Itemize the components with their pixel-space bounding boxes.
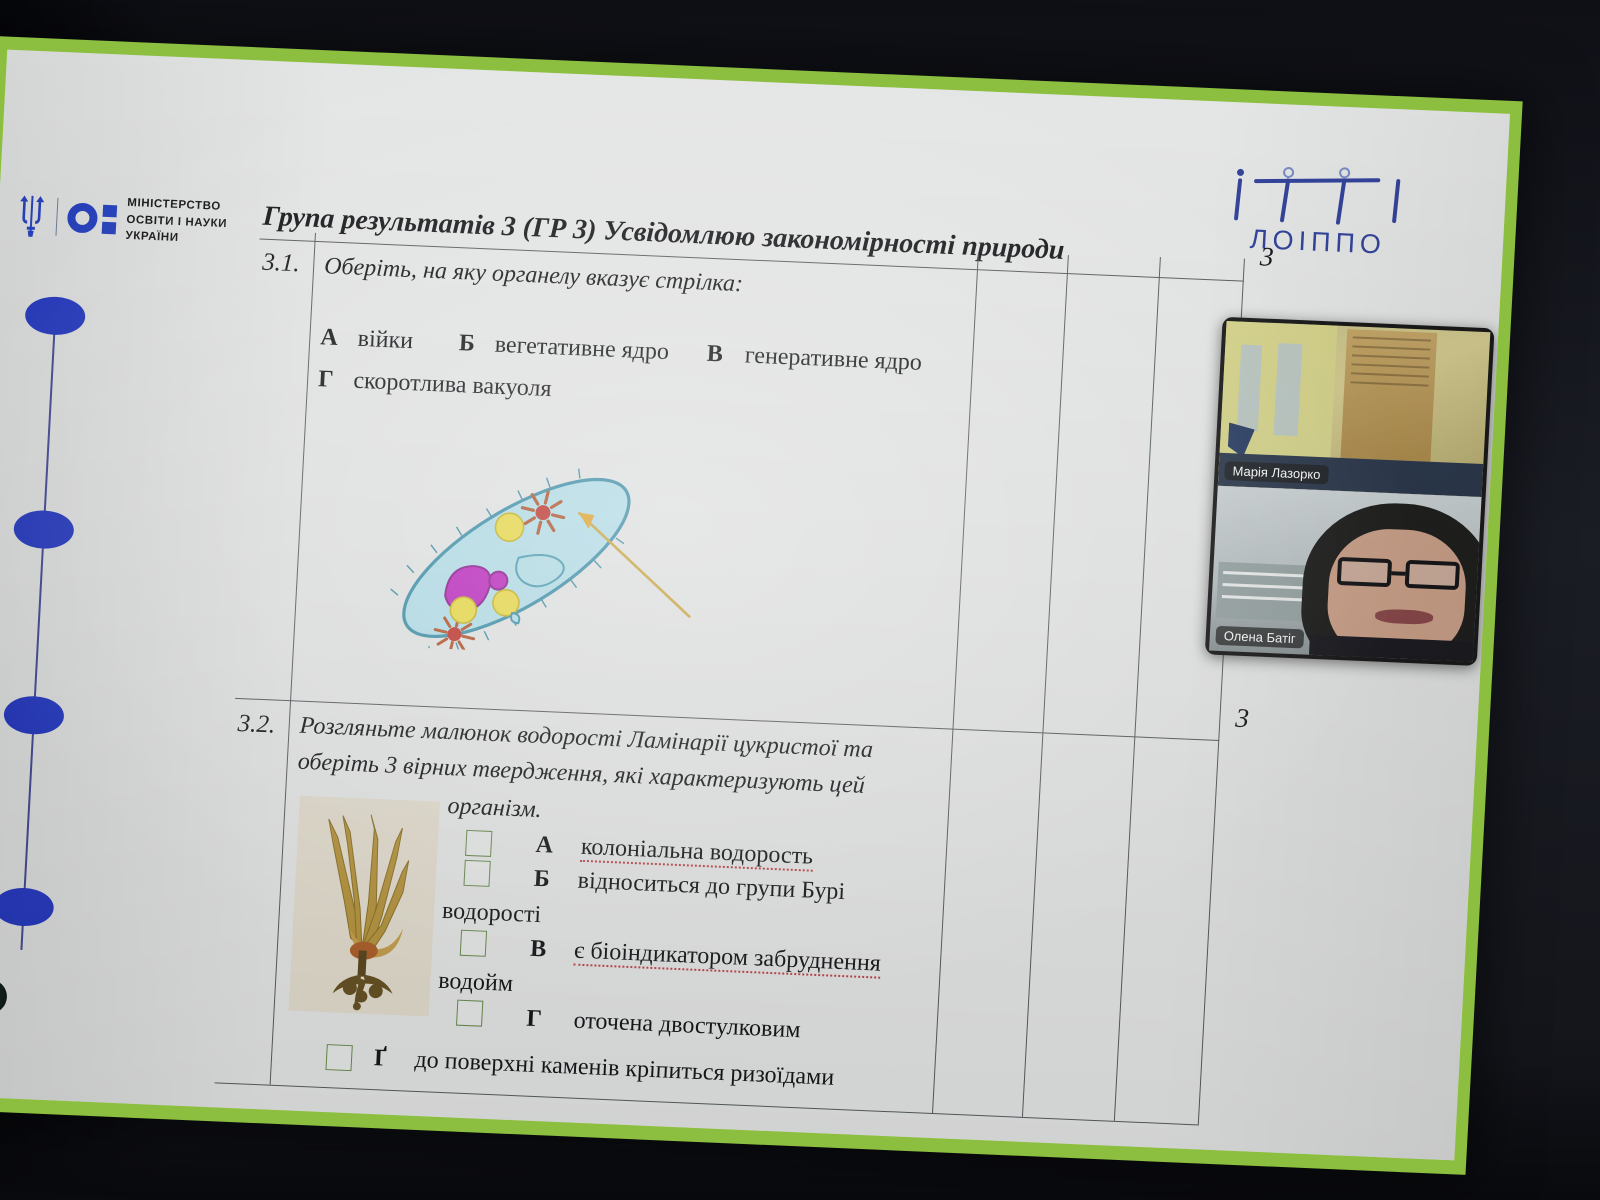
- video-participants-panel[interactable]: Марія Лазорко Олена Батіг: [1205, 317, 1495, 666]
- q31-option-a-text: війки: [357, 326, 414, 354]
- question-3-1-number: 3.1.: [262, 249, 301, 279]
- question-3-2-number: 3.2.: [237, 710, 276, 740]
- q32-option-v-letter: В: [530, 936, 547, 963]
- classroom-board: [1341, 329, 1438, 461]
- circle-mark-icon: [67, 202, 99, 233]
- rail-dot-4: [0, 887, 55, 928]
- rail-dot-1: [24, 296, 86, 337]
- projection-screen: МІНІСТЕРСТВО ОСВІТИ І НАУКИ УКРАЇНИ: [0, 36, 1523, 1175]
- q31-option-g-letter: Г: [318, 366, 335, 393]
- question-3-2-prompt-line3: організм.: [447, 791, 543, 827]
- glasses-icon: [1337, 557, 1460, 590]
- page-number-badge: 2: [0, 979, 8, 1014]
- q32-option-b-wrap: водорості: [441, 895, 542, 933]
- classroom-window-2: [1273, 343, 1302, 436]
- q32-checkbox-gj[interactable]: [325, 1044, 352, 1071]
- q31-option-a-letter: А: [320, 324, 339, 351]
- trident-icon: [15, 193, 47, 238]
- question-3-1-prompt: Оберіть, на яку органелу вказує стрілка:: [323, 251, 954, 310]
- q32-option-v-text: є біоіндикатором забруднення: [573, 938, 881, 979]
- q32-checkbox-a[interactable]: [465, 830, 492, 857]
- video-tile-portrait[interactable]: Олена Батіг: [1209, 486, 1482, 662]
- video-tile-classroom[interactable]: Марія Лазорко: [1218, 321, 1491, 497]
- q32-option-gj-text: до поверхні каменів кріпиться ризоїдами: [414, 1047, 835, 1091]
- mon-symbol: [67, 202, 118, 234]
- table-col-1: [932, 253, 979, 1113]
- q31-option-g-text: скоротлива вакуоля: [353, 368, 552, 402]
- q31-option-v-letter: В: [706, 341, 723, 368]
- q31-option-b-letter: Б: [458, 330, 475, 357]
- laminaria-illustration: [289, 796, 440, 1017]
- participant-name-2: Олена Батіг: [1215, 626, 1304, 649]
- screen-surface: МІНІСТЕРСТВО ОСВІТИ І НАУКИ УКРАЇНИ: [0, 50, 1510, 1161]
- q32-option-g-text: оточена двостулковим: [573, 1008, 801, 1044]
- q32-option-gj-letter: Ґ: [373, 1045, 387, 1071]
- rail-dot-3: [3, 695, 65, 736]
- q32-option-g-letter: Г: [526, 1006, 543, 1033]
- rail-dot-2: [13, 509, 75, 550]
- q32-checkbox-v[interactable]: [460, 930, 487, 957]
- table-col-2: [1022, 255, 1069, 1117]
- q32-option-a-letter: А: [535, 832, 554, 859]
- q31-option-v-text: генеративне ядро: [744, 342, 922, 376]
- rail-line: [20, 311, 56, 950]
- logo-divider: [55, 198, 58, 236]
- table-col-3: [1114, 257, 1161, 1121]
- slide-content: МІНІСТЕРСТВО ОСВІТИ І НАУКИ УКРАЇНИ: [0, 50, 1510, 1161]
- q32-checkbox-g[interactable]: [456, 1000, 483, 1027]
- worksheet-table: Група результатів 3 (ГР 3) Усвідомлюю за…: [213, 179, 1262, 1150]
- ministry-name: МІНІСТЕРСТВО ОСВІТИ І НАУКИ УКРАЇНИ: [125, 195, 228, 249]
- q32-option-b-letter: Б: [533, 866, 550, 893]
- q32-checkbox-b[interactable]: [463, 860, 490, 887]
- q32-option-v-wrap: водойм: [437, 965, 513, 1002]
- question-3-2-score: 3: [1235, 703, 1250, 735]
- squares-mark-icon: [102, 204, 118, 234]
- ministry-logo: МІНІСТЕРСТВО ОСВІТИ І НАУКИ УКРАЇНИ: [15, 190, 228, 249]
- decorative-dot-rail: [0, 296, 94, 958]
- paramecium-diagram: [358, 415, 710, 659]
- question-3-1-score: 3: [1259, 241, 1274, 273]
- q31-option-b-text: вегетативне ядро: [494, 332, 669, 365]
- laminaria-photo: [289, 796, 440, 1017]
